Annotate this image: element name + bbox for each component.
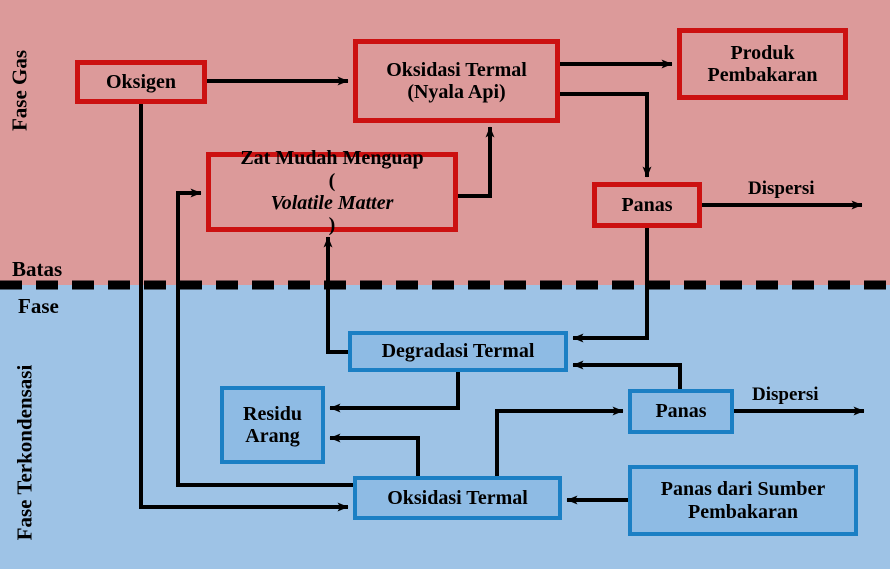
node-oksigen[interactable]: Oksigen xyxy=(75,60,207,104)
node-degradasi-termal-label: Degradasi Termal xyxy=(382,340,535,362)
node-produk-pembakaran-line2: Pembakaran xyxy=(708,64,818,86)
edge-oksidasi-to-panas-gas xyxy=(560,94,647,177)
node-panas-sumber-line1: Panas dari Sumber xyxy=(661,478,825,500)
node-oksidasi-termal-gas-line1: Oksidasi Termal xyxy=(386,59,527,81)
volatile-paren-open: ( xyxy=(271,170,394,192)
edge-volatile-to-oksidasi-gas xyxy=(458,127,490,196)
node-oksidasi-termal-gas-line2: (Nyala Api) xyxy=(407,81,505,103)
edge-degradasi-to-residu xyxy=(330,372,458,408)
node-panas-sumber-pembakaran[interactable]: Panas dari Sumber Pembakaran xyxy=(628,465,858,536)
edge-degradasi-to-volatile xyxy=(328,237,348,352)
node-zat-mudah-menguap-line1: Zat Mudah Menguap xyxy=(240,147,423,169)
node-panas-gas[interactable]: Panas xyxy=(592,182,702,228)
boundary-label-line1: Batas xyxy=(12,257,62,282)
edge-label-dispersi-cond: Dispersi xyxy=(752,384,819,406)
node-residu-arang[interactable]: Residu Arang xyxy=(220,386,325,464)
volatile-matter-italic: Volatile Matter xyxy=(271,192,394,214)
edge-oksidasi-cond-to-panas-cond xyxy=(497,411,623,476)
node-residu-arang-line2: Arang xyxy=(245,425,299,447)
node-panas-gas-label: Panas xyxy=(621,194,672,216)
phase-label-gas: Fase Gas xyxy=(8,46,33,136)
edge-panas-cond-to-degradasi xyxy=(573,365,680,389)
node-oksidasi-termal-gas[interactable]: Oksidasi Termal (Nyala Api) xyxy=(353,39,560,123)
volatile-paren-close: ) xyxy=(271,214,394,236)
node-produk-pembakaran[interactable]: Produk Pembakaran xyxy=(677,28,848,100)
node-zat-mudah-menguap-line2: (Volatile Matter) xyxy=(271,170,394,237)
diagram-canvas: Oksigen Oksidasi Termal (Nyala Api) Prod… xyxy=(0,0,890,569)
node-oksigen-label: Oksigen xyxy=(106,71,176,93)
node-panas-cond-label: Panas xyxy=(655,400,706,422)
boundary-label-line2: Fase xyxy=(18,294,59,319)
phase-label-condensed: Fase Terkondensasi xyxy=(13,353,38,553)
node-panas-cond[interactable]: Panas xyxy=(628,389,734,434)
node-oksidasi-termal-cond[interactable]: Oksidasi Termal xyxy=(353,476,562,520)
node-produk-pembakaran-line1: Produk xyxy=(730,42,794,64)
node-panas-sumber-line2: Pembakaran xyxy=(688,501,798,523)
edge-oksidasi-cond-to-residu xyxy=(330,438,418,476)
node-zat-mudah-menguap[interactable]: Zat Mudah Menguap (Volatile Matter) xyxy=(206,152,458,232)
node-oksidasi-termal-cond-label: Oksidasi Termal xyxy=(387,487,528,509)
node-degradasi-termal[interactable]: Degradasi Termal xyxy=(348,331,568,372)
node-residu-arang-line1: Residu xyxy=(243,403,302,425)
edge-label-dispersi-gas: Dispersi xyxy=(748,178,815,200)
